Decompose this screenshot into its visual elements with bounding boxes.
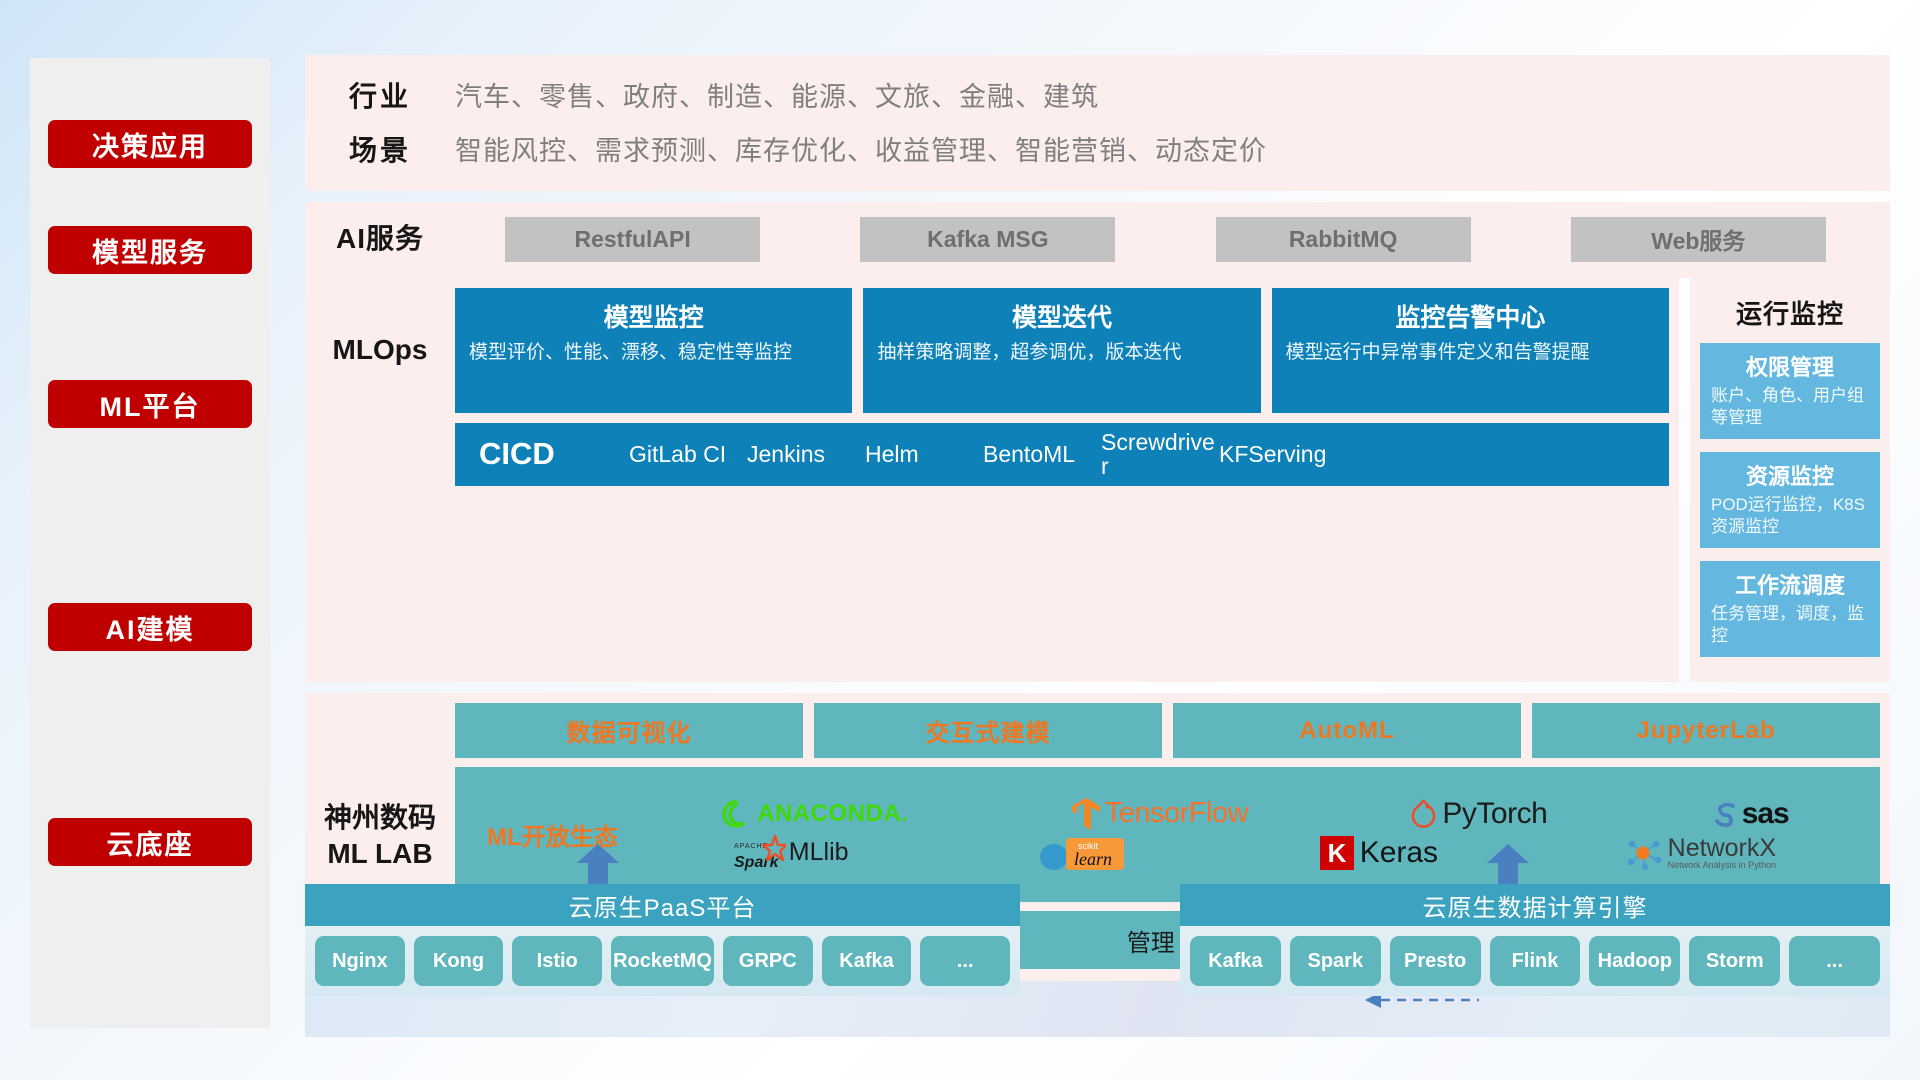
paas-panel: 云原生PaaS平台 Nginx Kong Istio RocketMQ GRPC…: [305, 884, 1020, 996]
compute-chip-flink[interactable]: Flink: [1490, 936, 1581, 986]
tool-chip-automl[interactable]: AutoML: [1173, 703, 1521, 758]
cicd-item-helm[interactable]: Helm: [865, 442, 983, 466]
sas-label: sas: [1742, 797, 1789, 831]
anaconda-icon: [721, 799, 751, 829]
compute-chip-more[interactable]: ...: [1789, 936, 1880, 986]
paas-chip-list: Nginx Kong Istio RocketMQ GRPC Kafka ...: [305, 926, 1020, 996]
run-monitor-column: 运行监控 权限管理 账户、角色、用户组等管理 资源监控 POD运行监控，K8S资…: [1690, 278, 1890, 683]
cicd-bar: CICD GitLab CI Jenkins Helm BentoML Scre…: [455, 423, 1669, 486]
run-monitor-card-desc: 账户、角色、用户组等管理: [1711, 385, 1869, 429]
ml-lab-tool-row: 数据可视化 交互式建模 AutoML JupyterLab: [455, 703, 1880, 758]
cicd-item-screwdriver[interactable]: Screwdriver: [1101, 430, 1219, 478]
tensorflow-icon: [1071, 797, 1101, 831]
scenario-value: 智能风控、需求预测、库存优化、收益管理、智能营销、动态定价: [455, 129, 1267, 168]
mlops-label: MLOps: [305, 288, 455, 413]
run-monitor-title: 运行监控: [1700, 294, 1880, 331]
industry-row: 行业 汽车、零售、政府、制造、能源、文旅、金融、建筑: [305, 75, 1890, 115]
anaconda-label: ANACONDA.: [757, 800, 908, 828]
paas-chip-kong[interactable]: Kong: [414, 936, 504, 986]
mlops-card-alert-center[interactable]: 监控告警中心 模型运行中异常事件定义和告警提醒: [1272, 288, 1669, 413]
paas-chip-grpc[interactable]: GRPC: [723, 936, 813, 986]
tensorflow-logo[interactable]: TensorFlow: [1071, 797, 1248, 831]
cicd-item-kfserving[interactable]: KFServing: [1219, 442, 1337, 466]
run-monitor-card-permission[interactable]: 权限管理 账户、角色、用户组等管理: [1700, 343, 1880, 439]
rail-item-ai-modeling[interactable]: AI建模: [48, 603, 252, 651]
cicd-item-bentoml[interactable]: BentoML: [983, 442, 1101, 466]
cicd-item-gitlab-ci[interactable]: GitLab CI: [629, 442, 747, 466]
mlops-card-model-monitor[interactable]: 模型监控 模型评价、性能、漂移、稳定性等监控: [455, 288, 852, 413]
paas-chip-nginx[interactable]: Nginx: [315, 936, 405, 986]
compute-chip-hadoop[interactable]: Hadoop: [1589, 936, 1680, 986]
cicd-title: CICD: [479, 436, 629, 472]
ai-chip-web-service[interactable]: Web服务: [1571, 217, 1826, 262]
ai-service-band: AI服务 RestfulAPI Kafka MSG RabbitMQ Web服务: [305, 202, 1890, 278]
ai-chip-kafka-msg[interactable]: Kafka MSG: [860, 217, 1115, 262]
industry-value: 汽车、零售、政府、制造、能源、文旅、金融、建筑: [455, 75, 1099, 114]
industry-scenario-band: 行业 汽车、零售、政府、制造、能源、文旅、金融、建筑 场景 智能风控、需求预测、…: [305, 55, 1890, 191]
pytorch-icon: [1410, 799, 1437, 829]
rail-item-ml-platform[interactable]: ML平台: [48, 380, 252, 428]
paas-chip-rocketmq[interactable]: RocketMQ: [611, 936, 714, 986]
mlops-column: MLOps 模型监控 模型评价、性能、漂移、稳定性等监控 模型迭代 抽样策略调整…: [305, 278, 1679, 683]
run-monitor-card-desc: 任务管理，调度，监控: [1711, 603, 1869, 647]
tool-chip-interactive-modeling[interactable]: 交互式建模: [814, 703, 1162, 758]
sas-icon: [1710, 799, 1740, 829]
paas-chip-more[interactable]: ...: [920, 936, 1010, 986]
compute-chip-spark[interactable]: Spark: [1290, 936, 1381, 986]
tool-chip-jupyterlab[interactable]: JupyterLab: [1532, 703, 1880, 758]
paas-chip-kafka[interactable]: Kafka: [822, 936, 912, 986]
ai-service-label: AI服务: [305, 221, 455, 257]
mlops-card-desc: 模型运行中异常事件定义和告警提醒: [1286, 340, 1655, 365]
mlops-card-title: 模型监控: [469, 298, 838, 334]
rail-item-model-service[interactable]: 模型服务: [48, 226, 252, 274]
mlops-card-desc: 抽样策略调整，超参调优，版本迭代: [877, 340, 1246, 365]
compute-engine-panel: 云原生数据计算引擎 Kafka Spark Presto Flink Hadoo…: [1180, 884, 1890, 996]
mlops-card-model-iteration[interactable]: 模型迭代 抽样策略调整，超参调优，版本迭代: [863, 288, 1260, 413]
tool-chip-data-visualization[interactable]: 数据可视化: [455, 703, 803, 758]
run-monitor-card-workflow[interactable]: 工作流调度 任务管理，调度，监控: [1700, 561, 1880, 657]
run-monitor-card-desc: POD运行监控，K8S资源监控: [1711, 494, 1869, 538]
compute-engine-title: 云原生数据计算引擎: [1180, 884, 1890, 926]
sas-logo[interactable]: sas: [1710, 797, 1789, 831]
scenario-row: 场景 智能风控、需求预测、库存优化、收益管理、智能营销、动态定价: [305, 129, 1890, 169]
mlops-card-title: 模型迭代: [877, 298, 1246, 334]
tensorflow-label: TensorFlow: [1105, 797, 1248, 830]
ai-chip-restfulapi[interactable]: RestfulAPI: [505, 217, 760, 262]
cicd-item-jenkins[interactable]: Jenkins: [747, 442, 865, 466]
up-arrow-paas-icon: [575, 844, 621, 884]
compute-chip-kafka[interactable]: Kafka: [1190, 936, 1281, 986]
architecture-main: 行业 汽车、零售、政府、制造、能源、文旅、金融、建筑 场景 智能风控、需求预测、…: [305, 55, 1890, 981]
paas-chip-istio[interactable]: Istio: [512, 936, 602, 986]
industry-label: 行业: [305, 79, 455, 115]
mlops-card-title: 监控告警中心: [1286, 298, 1655, 334]
run-monitor-card-title: 资源监控: [1711, 459, 1869, 491]
run-monitor-card-title: 权限管理: [1711, 350, 1869, 382]
scenario-label: 场景: [305, 133, 455, 169]
networkx-label: NetworkX: [1668, 836, 1777, 861]
category-rail: 决策应用 模型服务 ML平台 AI建模 云底座: [30, 58, 270, 1028]
cloud-base-band: 云原生PaaS平台 Nginx Kong Istio RocketMQ GRPC…: [305, 862, 1890, 1037]
run-monitor-card-title: 工作流调度: [1711, 568, 1869, 600]
compute-chip-presto[interactable]: Presto: [1390, 936, 1481, 986]
compute-chip-list: Kafka Spark Presto Flink Hadoop Storm ..…: [1180, 926, 1890, 996]
up-arrow-compute-icon: [1485, 844, 1531, 884]
paas-title: 云原生PaaS平台: [305, 884, 1020, 926]
mlops-card-list: 模型监控 模型评价、性能、漂移、稳定性等监控 模型迭代 抽样策略调整，超参调优，…: [455, 288, 1669, 413]
ai-chip-rabbitmq[interactable]: RabbitMQ: [1216, 217, 1471, 262]
ml-platform-band: MLOps 模型监控 模型评价、性能、漂移、稳定性等监控 模型迭代 抽样策略调整…: [305, 278, 1890, 683]
anaconda-logo[interactable]: ANACONDA.: [721, 799, 908, 829]
ecosystem-logo-row-1: ANACONDA. TensorFlow: [640, 797, 1870, 831]
pytorch-logo[interactable]: PyTorch: [1410, 797, 1547, 831]
mlops-card-desc: 模型评价、性能、漂移、稳定性等监控: [469, 340, 838, 365]
rail-item-decision[interactable]: 决策应用: [48, 120, 252, 168]
ai-service-chip-list: RestfulAPI Kafka MSG RabbitMQ Web服务: [455, 217, 1890, 262]
run-monitor-card-resource[interactable]: 资源监控 POD运行监控，K8S资源监控: [1700, 452, 1880, 548]
compute-chip-storm[interactable]: Storm: [1689, 936, 1780, 986]
rail-item-cloud-base[interactable]: 云底座: [48, 818, 252, 866]
pytorch-label: PyTorch: [1442, 797, 1547, 831]
